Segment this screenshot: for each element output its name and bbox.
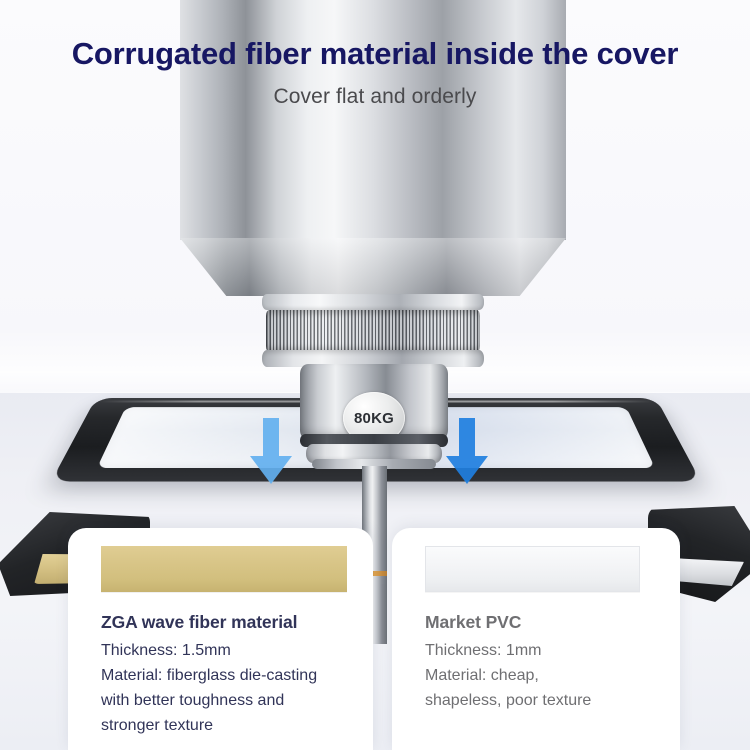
material-card-pvc: Market PVC Thickness: 1mm Material: chea… xyxy=(392,528,680,750)
material-swatch-zga xyxy=(101,546,347,592)
page-subheadline: Cover flat and orderly xyxy=(0,85,750,109)
material-detail-line: Thickness: 1.5mm xyxy=(101,638,357,663)
material-card-details-pvc: Thickness: 1mm Material: cheap, shapeles… xyxy=(425,638,664,713)
material-card-title-pvc: Market PVC xyxy=(425,612,521,633)
material-card-zga: ZGA wave fiber material Thickness: 1.5mm… xyxy=(68,528,373,750)
page-headline: Corrugated fiber material inside the cov… xyxy=(0,36,750,72)
material-detail-line: shapeless, poor texture xyxy=(425,688,664,713)
material-card-details-zga: Thickness: 1.5mm Material: fiberglass di… xyxy=(101,638,357,738)
material-detail-line: Thickness: 1mm xyxy=(425,638,664,663)
material-detail-line: Material: fiberglass die-casting xyxy=(101,663,357,688)
material-detail-line: Material: cheap, xyxy=(425,663,664,688)
pressure-arrow-right-icon xyxy=(444,418,490,486)
weight-badge-label: 80KG xyxy=(354,410,394,427)
material-swatch-pvc xyxy=(425,546,640,592)
material-detail-line: with better toughness and xyxy=(101,688,357,713)
material-card-title-zga: ZGA wave fiber material xyxy=(101,612,297,633)
material-detail-line: stronger texture xyxy=(101,713,357,738)
product-feature-banner: 80KG Corrugated fiber material inside th… xyxy=(0,0,750,750)
pressure-arrow-left-icon xyxy=(248,418,294,486)
